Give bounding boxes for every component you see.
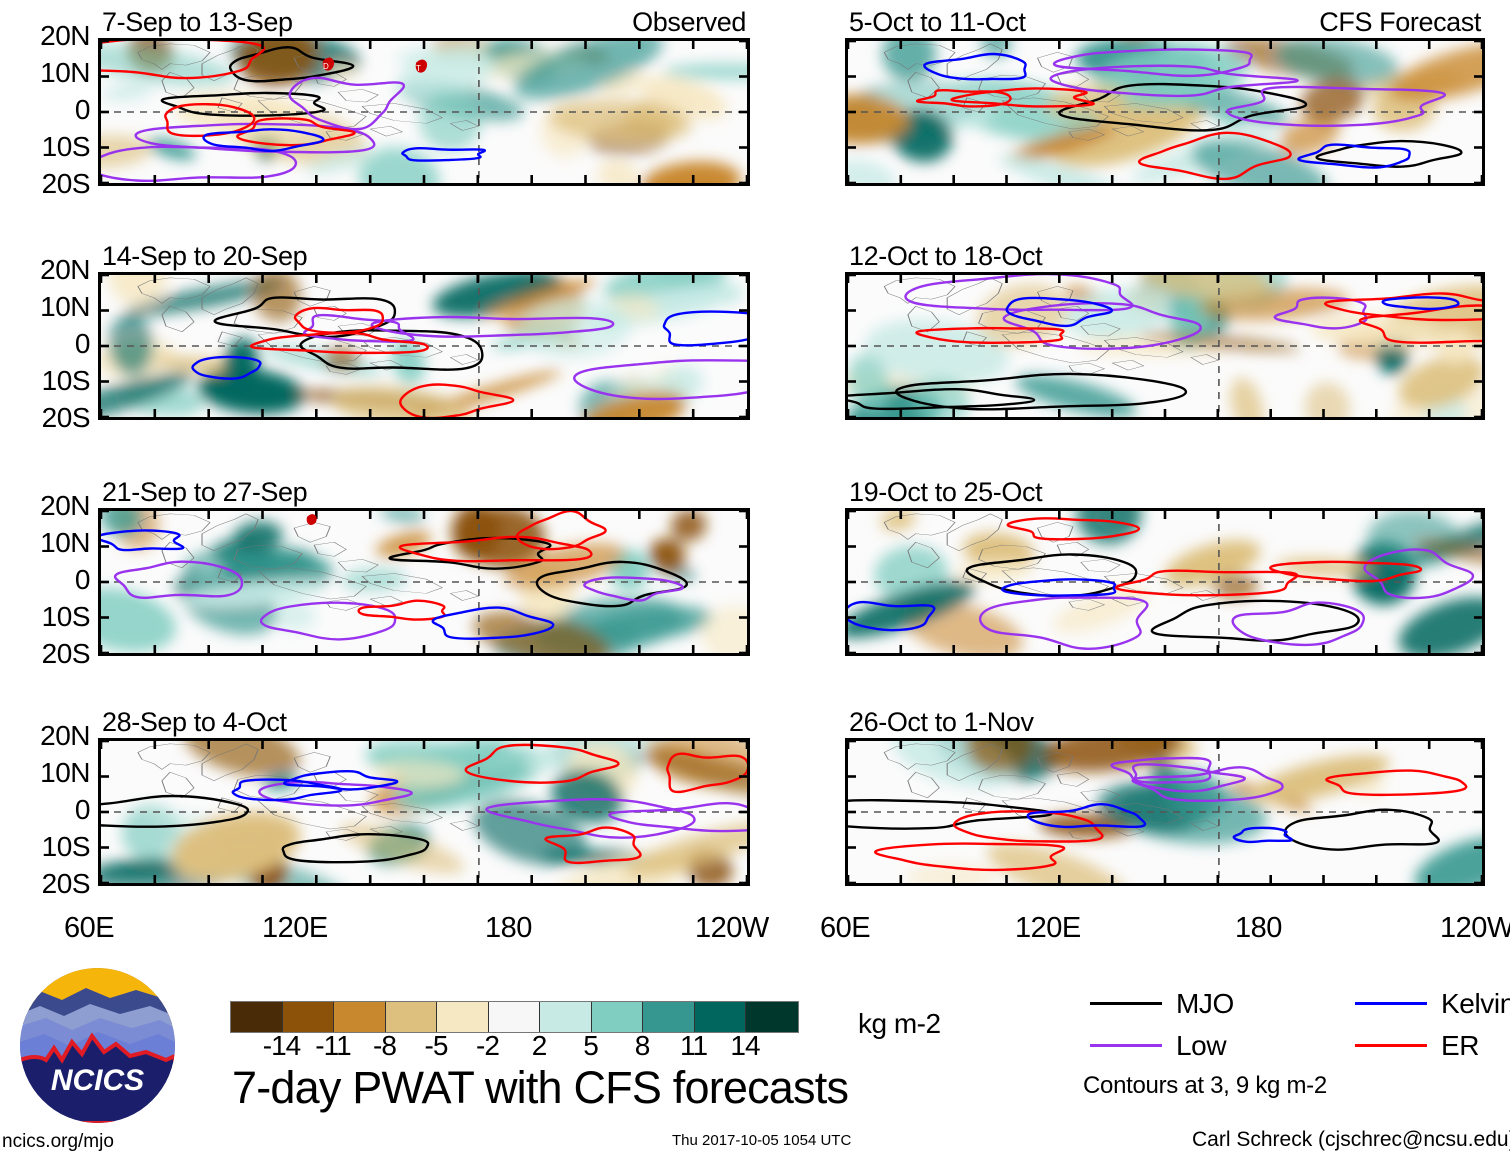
legend-note: Contours at 3, 9 kg m-2 bbox=[1083, 1072, 1327, 1100]
panel-grid: 7-Sep to 13-SepDT20N10N010S20S5-Oct to 1… bbox=[0, 0, 1510, 950]
y-axis-label: 20S bbox=[0, 402, 90, 434]
x-axis-label: 60E bbox=[820, 912, 870, 945]
legend-line-kelvin-x2 bbox=[1355, 1002, 1427, 1005]
colorbar-swatch bbox=[695, 1002, 747, 1032]
ncics-logo[interactable]: NCICS bbox=[20, 968, 175, 1123]
x-axis-label: 120W bbox=[695, 912, 769, 945]
map-panel bbox=[98, 508, 750, 656]
colorbar bbox=[230, 1001, 799, 1033]
svg-text:T: T bbox=[416, 64, 421, 73]
y-axis-label: 0 bbox=[0, 328, 90, 360]
colorbar-swatch bbox=[231, 1002, 283, 1032]
panel-title: 12-Oct to 18-Oct bbox=[849, 241, 1042, 272]
y-axis-label: 20S bbox=[0, 638, 90, 670]
y-axis-label: 20N bbox=[0, 490, 90, 522]
y-axis-label: 20S bbox=[0, 168, 90, 200]
y-axis-label: 0 bbox=[0, 94, 90, 126]
y-axis-label: 0 bbox=[0, 794, 90, 826]
y-axis-label: 20S bbox=[0, 868, 90, 900]
colorbar-swatch bbox=[386, 1002, 438, 1032]
column-header-cfs: CFS Forecast bbox=[845, 7, 1481, 38]
y-axis-label: 10S bbox=[0, 831, 90, 863]
column-header-observed: Observed bbox=[98, 7, 746, 38]
svg-text:D: D bbox=[323, 62, 329, 71]
colorbar-swatch bbox=[283, 1002, 335, 1032]
colorbar-swatch bbox=[489, 1002, 541, 1032]
y-axis-label: 10N bbox=[0, 57, 90, 89]
legend-line-low bbox=[1090, 1044, 1162, 1047]
x-axis-label: 180 bbox=[1235, 912, 1282, 945]
colorbar-swatch bbox=[437, 1002, 489, 1032]
panel-title: 14-Sep to 20-Sep bbox=[102, 241, 307, 272]
legend-line-er bbox=[1355, 1044, 1427, 1047]
panel-title: 19-Oct to 25-Oct bbox=[849, 477, 1042, 508]
map-panel bbox=[98, 272, 750, 420]
map-panel bbox=[845, 738, 1485, 886]
y-axis-label: 20N bbox=[0, 254, 90, 286]
map-panel bbox=[845, 272, 1485, 420]
logo-url-text[interactable]: ncics.org/mjo bbox=[2, 1131, 114, 1153]
x-axis-label: 120E bbox=[1015, 912, 1081, 945]
legend-label: MJO bbox=[1176, 988, 1234, 1020]
y-axis-label: 20N bbox=[0, 720, 90, 752]
colorbar-swatch bbox=[592, 1002, 644, 1032]
y-axis-label: 10S bbox=[0, 601, 90, 633]
timestamp: Thu 2017-10-05 1054 UTC bbox=[672, 1132, 851, 1149]
x-axis-label: 180 bbox=[485, 912, 532, 945]
panel-title: 21-Sep to 27-Sep bbox=[102, 477, 307, 508]
legend-line-mjo bbox=[1090, 1002, 1162, 1005]
panel-title: 28-Sep to 4-Oct bbox=[102, 707, 287, 738]
map-panel bbox=[98, 738, 750, 886]
y-axis-label: 10N bbox=[0, 291, 90, 323]
colorbar-swatch bbox=[334, 1002, 386, 1032]
y-axis-label: 0 bbox=[0, 564, 90, 596]
author-credit[interactable]: Carl Schreck (cjschrec@ncsu.edu) bbox=[1192, 1128, 1510, 1152]
panel-title: 26-Oct to 1-Nov bbox=[849, 707, 1034, 738]
colorbar-tick-label: 14 bbox=[715, 1030, 775, 1062]
colorbar-units: kg m-2 bbox=[858, 1008, 941, 1040]
colorbar-swatch bbox=[746, 1002, 798, 1032]
x-axis-label: 60E bbox=[64, 912, 114, 945]
y-axis-label: 10N bbox=[0, 757, 90, 789]
legend-label: Low bbox=[1176, 1030, 1226, 1062]
colorbar-swatch bbox=[540, 1002, 592, 1032]
y-axis-label: 10S bbox=[0, 365, 90, 397]
y-axis-label: 10N bbox=[0, 527, 90, 559]
colorbar-swatch bbox=[643, 1002, 695, 1032]
map-panel bbox=[845, 38, 1485, 186]
y-axis-label: 10S bbox=[0, 131, 90, 163]
legend-label: Kelvin x2 bbox=[1441, 988, 1510, 1020]
x-axis-label: 120E bbox=[262, 912, 328, 945]
map-panel: DT bbox=[98, 38, 750, 186]
x-axis-label: 120W bbox=[1440, 912, 1510, 945]
svg-text:NCICS: NCICS bbox=[51, 1064, 144, 1097]
map-panel bbox=[845, 508, 1485, 656]
figure-title: 7-day PWAT with CFS forecasts bbox=[232, 1062, 848, 1114]
y-axis-label: 20N bbox=[0, 20, 90, 52]
legend-label: ER bbox=[1441, 1030, 1479, 1062]
